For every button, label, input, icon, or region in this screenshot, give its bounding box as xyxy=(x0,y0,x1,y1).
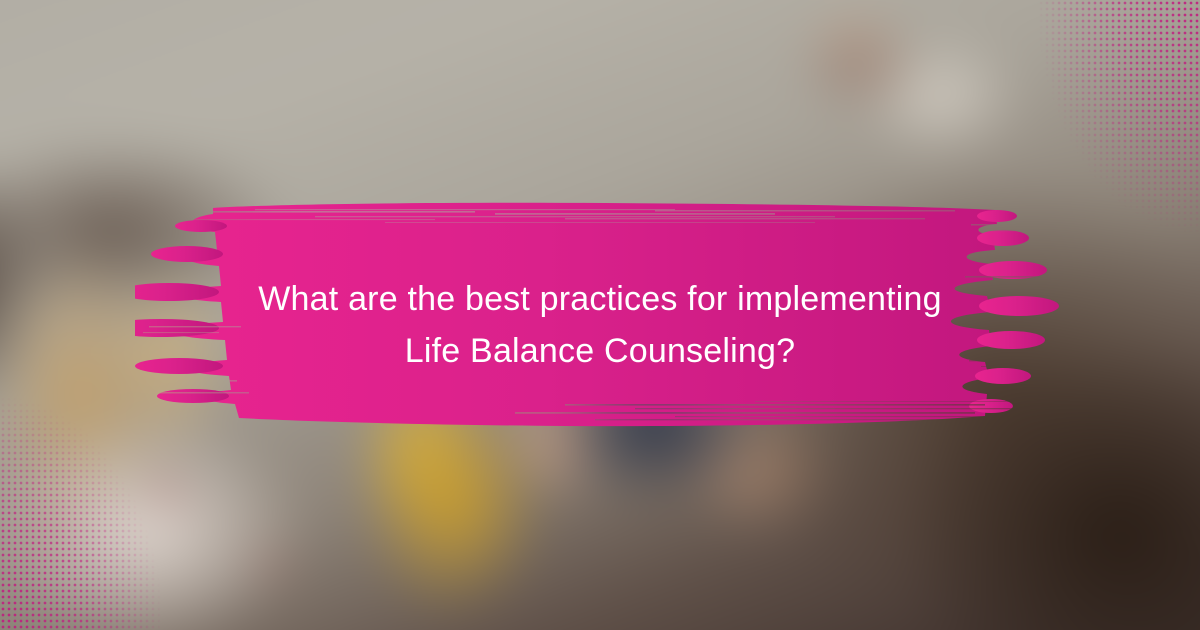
page-title: What are the best practices for implemen… xyxy=(180,273,1020,377)
social-card: What are the best practices for implemen… xyxy=(0,0,1200,630)
